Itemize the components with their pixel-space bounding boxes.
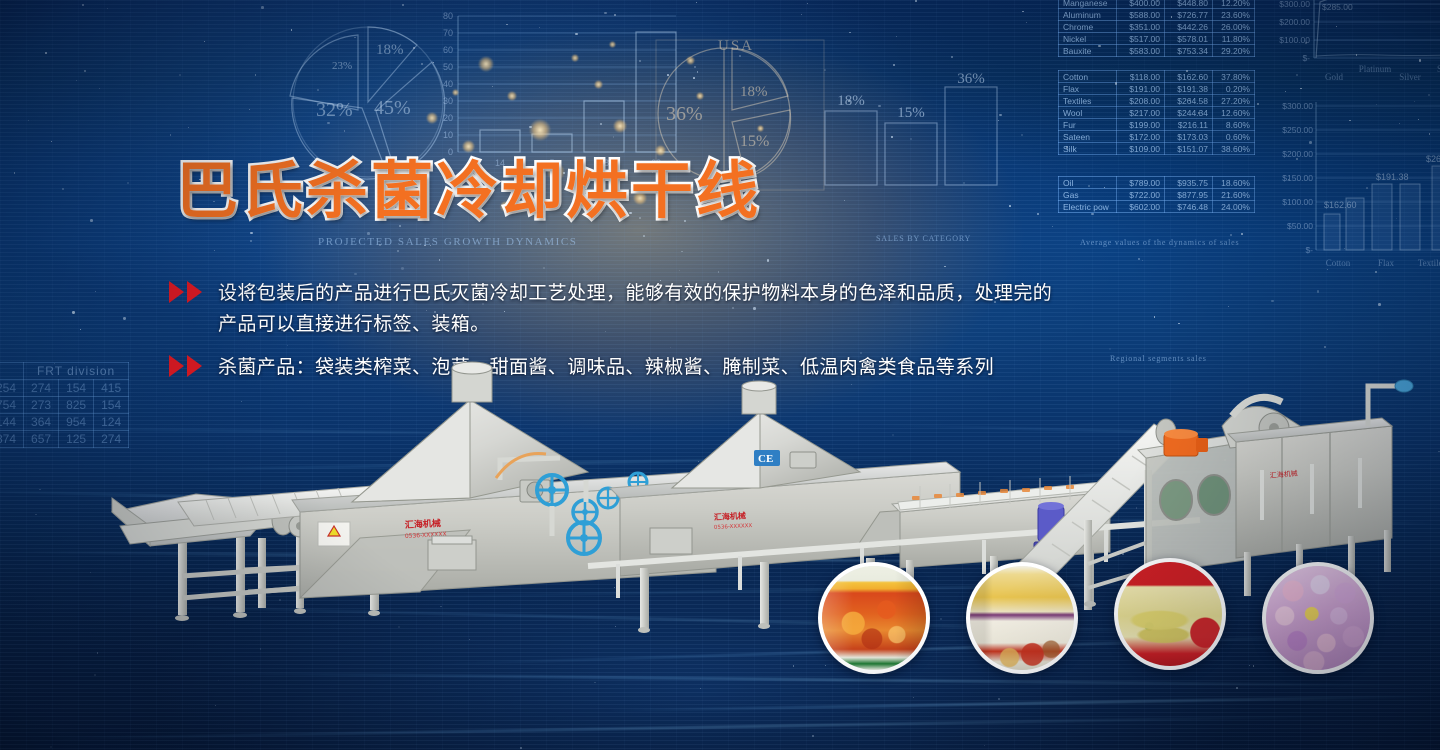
table-cell: $118.00 [1117, 71, 1165, 83]
pie-left-label-23: 23% [332, 60, 352, 72]
background-bar-chart-percent: 18% 15% 36% [815, 75, 1065, 195]
table-row: Textiles$208.00$264.5827.20% [1059, 95, 1255, 107]
table-cell: $789.00 [1117, 177, 1165, 189]
product-circle-4[interactable] [1262, 562, 1374, 674]
table-cell: Silk [1059, 143, 1117, 155]
pie-left-label-32: 32% [316, 99, 353, 121]
table-cell: 18.60% [1213, 177, 1255, 189]
ce-mark-badge: CE [754, 450, 780, 466]
table-cell: Oil [1059, 177, 1117, 189]
table-cell: $191.00 [1117, 83, 1165, 95]
table-cell: $199.00 [1117, 119, 1165, 131]
table-cell: 38.60% [1213, 143, 1255, 155]
table-cell: Chrome [1059, 21, 1117, 33]
table-cell: $578.01 [1165, 33, 1213, 45]
tex-tick-200: $200.00 [1282, 149, 1313, 159]
table-row: Fur$199.00$216.118.60% [1059, 119, 1255, 131]
usa-label-36: 36% [666, 103, 703, 125]
product-label-1: 辣 [822, 656, 926, 666]
table-row: Aluminum$588.00$726.7723.60% [1059, 9, 1255, 21]
tex-cat-flax: Flax [1378, 258, 1395, 268]
table-cell: $109.00 [1117, 143, 1165, 155]
commodity-energy-table: Oil$789.00$935.7518.60%Gas$722.00$877.95… [1058, 176, 1255, 213]
metal-tick-300: $300.00 [1279, 0, 1310, 9]
table-cell: Flax [1059, 83, 1117, 95]
table-cell: Electric pow [1059, 201, 1117, 213]
tex-tick-250: $250.00 [1282, 125, 1313, 135]
table-cell: Bauxite [1059, 45, 1117, 57]
table-cell: Cotton [1059, 71, 1117, 83]
commodity-metals-table: Manganese$400.00$448.8012.20%Aluminum$58… [1058, 0, 1255, 57]
table-cell: $746.48 [1165, 201, 1213, 213]
table-cell: $517.00 [1117, 33, 1165, 45]
table-row: Silk$109.00$151.0738.60% [1059, 143, 1255, 155]
ytick-50: 50 [443, 62, 453, 72]
ytick-60: 60 [443, 45, 453, 55]
table-cell: 24.00% [1213, 201, 1255, 213]
table-cell: 12.20% [1213, 0, 1255, 9]
table-cell: $162.60 [1165, 71, 1213, 83]
metal-tick-200: $200.00 [1279, 17, 1310, 27]
table-cell: $935.75 [1165, 177, 1213, 189]
ytick-70: 70 [443, 28, 453, 38]
table-row: Wool$217.00$244.3412.60% [1059, 107, 1255, 119]
product-circle-2[interactable]: 老坛酸菜 [966, 562, 1078, 674]
table-cell: $588.00 [1117, 9, 1165, 21]
table-cell: 8.60% [1213, 119, 1255, 131]
metal-tick-0: $- [1302, 53, 1310, 63]
table-cell: 21.60% [1213, 189, 1255, 201]
tex-cat-cotton: Cotton [1326, 258, 1351, 268]
tex-tick-50: $50.00 [1287, 221, 1313, 231]
table-cell: $191.38 [1165, 83, 1213, 95]
metal-cat-platinum: Platinum [1359, 64, 1392, 74]
table-cell: Fur [1059, 119, 1117, 131]
product-label-2: 老坛酸菜 [970, 656, 1074, 666]
svg-text:CE: CE [758, 453, 773, 465]
product-circle-3[interactable]: 五香榨菜 [1114, 558, 1226, 670]
tex-tick-100: $100.00 [1282, 197, 1313, 207]
table-cell: $151.07 [1165, 143, 1213, 155]
page-title: 巴氏杀菌冷却烘干线 [176, 160, 761, 222]
bar-pct-15: 15% [897, 105, 925, 121]
table-cell: Gas [1059, 189, 1117, 201]
table-row: Nickel$517.00$578.0111.80% [1059, 33, 1255, 45]
table-cell: Manganese [1059, 0, 1117, 9]
ytick-40: 40 [443, 79, 453, 89]
background-bar-chart-metals: $300.00 $200.00 $100.00 $- $375.00 $285.… [1280, 0, 1440, 92]
svg-text:汇海机械: 汇海机械 [714, 510, 746, 522]
metal-cat-gold: Gold [1325, 72, 1344, 82]
table-row: Manganese$400.00$448.8012.20% [1059, 0, 1255, 9]
background-bar-chart-textiles: $300.00 $250.00 $200.00 $150.00 $100.00 … [1280, 96, 1440, 276]
tex-annot-191: $191.38 [1376, 172, 1409, 182]
pie-left-label-18: 18% [376, 42, 404, 58]
bar-pct-36: 36% [957, 71, 985, 87]
metal-cat-silver: Silver [1399, 72, 1421, 82]
table-cell: 12.60% [1213, 107, 1255, 119]
table-cell: 0.20% [1213, 83, 1255, 95]
usa-chart-title: USA [718, 38, 754, 55]
tex-annot-264: $264.5 [1426, 154, 1440, 164]
table-cell: $442.26 [1165, 21, 1213, 33]
metal-tick-100: $100.00 [1279, 35, 1310, 45]
table-cell: $172.00 [1117, 131, 1165, 143]
hero-banner: 18% 23% 32% 45% [0, 0, 1440, 750]
table-cell: $173.03 [1165, 131, 1213, 143]
table-cell: Textiles [1059, 95, 1117, 107]
table-cell: 29.20% [1213, 45, 1255, 57]
table-row: Gas$722.00$877.9521.60% [1059, 189, 1255, 201]
table-cell: $351.00 [1117, 21, 1165, 33]
usa-label-15: 15% [740, 133, 769, 150]
table-cell: $726.77 [1165, 9, 1213, 21]
bar-pct-18: 18% [837, 93, 865, 109]
table-cell: $753.34 [1165, 45, 1213, 57]
table-row: Oil$789.00$935.7518.60% [1059, 177, 1255, 189]
table-cell: Wool [1059, 107, 1117, 119]
table-cell: 23.60% [1213, 9, 1255, 21]
table-cell: $400.00 [1117, 0, 1165, 9]
ytick-30: 30 [443, 96, 453, 106]
tex-annot-162: $162.60 [1324, 200, 1357, 210]
table-row: Sateen$172.00$173.030.60% [1059, 131, 1255, 143]
table-cell: $244.34 [1165, 107, 1213, 119]
table-cell: $583.00 [1117, 45, 1165, 57]
table-row: Electric pow$602.00$746.4824.00% [1059, 201, 1255, 213]
tex-tick-0: $- [1305, 245, 1313, 255]
tex-tick-150: $150.00 [1282, 173, 1313, 183]
table-row: Cotton$118.00$162.6037.80% [1059, 71, 1255, 83]
ytick-80: 80 [443, 11, 453, 21]
tex-cat-textile: Textiles [1418, 258, 1440, 268]
table-cell: $602.00 [1117, 201, 1165, 213]
table-cell: Aluminum [1059, 9, 1117, 21]
ytick-20: 20 [443, 113, 453, 123]
double-arrow-icon [168, 280, 210, 304]
table-cell: Nickel [1059, 33, 1117, 45]
table-cell: $264.58 [1165, 95, 1213, 107]
table-cell: 37.80% [1213, 71, 1255, 83]
table-cell: 27.20% [1213, 95, 1255, 107]
table-cell: $216.11 [1165, 119, 1213, 131]
product-label-3: 五香榨菜 [1118, 652, 1222, 662]
product-circle-1[interactable]: 辣 [818, 562, 930, 674]
table-cell: 0.60% [1213, 131, 1255, 143]
table-row: Bauxite$583.00$753.3429.20% [1059, 45, 1255, 57]
product-thumbnails: 辣 老坛酸菜 五香榨菜 [818, 558, 1418, 678]
tex-tick-300: $300.00 [1282, 101, 1313, 111]
table-cell: $217.00 [1117, 107, 1165, 119]
metal-annot-285: $285.00 [1322, 2, 1353, 12]
table-cell: $877.95 [1165, 189, 1213, 201]
label-average-values: Average values of the dynamics of sales [1080, 238, 1239, 247]
table-cell: $208.00 [1117, 95, 1165, 107]
usa-label-18: 18% [740, 84, 768, 100]
table-cell: 11.80% [1213, 33, 1255, 45]
table-cell: 26.00% [1213, 21, 1255, 33]
table-row: Chrome$351.00$442.2626.00% [1059, 21, 1255, 33]
commodity-fibers-table: Cotton$118.00$162.6037.80%Flax$191.00$19… [1058, 70, 1255, 155]
table-cell: Sateen [1059, 131, 1117, 143]
ytick-10: 10 [443, 130, 453, 140]
table-row: Flax$191.00$191.380.20% [1059, 83, 1255, 95]
background-bar-chart-left: 80 70 60 50 40 30 20 10 0 14 5 38 68 [424, 6, 684, 176]
table-cell: $448.80 [1165, 0, 1213, 9]
label-sales-by-category: SALES BY CATEGORY [876, 234, 971, 243]
table-cell: $722.00 [1117, 189, 1165, 201]
label-projected-sales: PROJECTED SALES GROWTH DYNAMICS [318, 236, 578, 248]
pie-left-label-45: 45% [374, 97, 411, 119]
